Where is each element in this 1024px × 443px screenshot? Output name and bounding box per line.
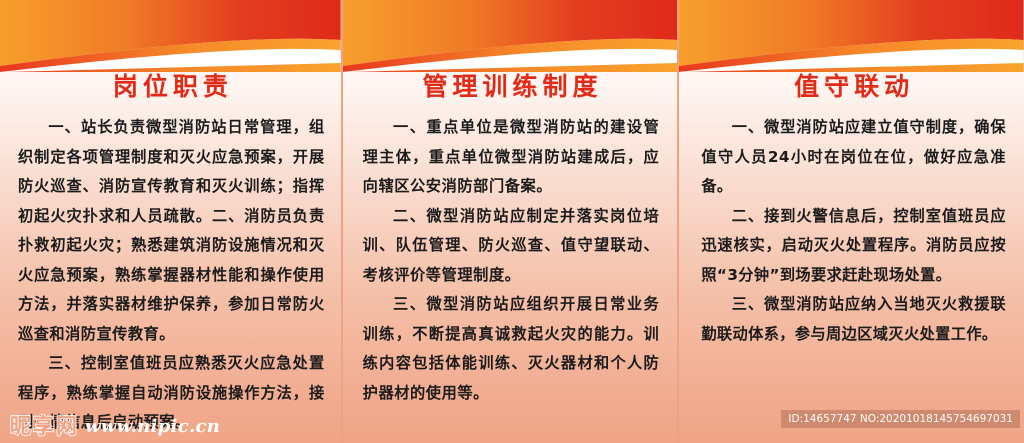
logo-char: 享 [33, 416, 54, 437]
paragraph: 一、站长负责微型消防站日常管理，组织制定各项管理制度和灭火应急预案，开展防火巡查… [18, 113, 325, 349]
panel-title: 岗位职责 [0, 74, 341, 99]
paragraph: 三、微型消防站应纳入当地灭火救援联勤联动体系，参与周边区域灭火处置工作。 [701, 290, 1006, 349]
paragraph: 三、微型消防站应组织开展日常业务训练，不断提高真诚救起火灾的能力。训练内容包括体… [363, 290, 660, 408]
panel-management-training-system: 管理训练制度 一、重点单位是微型消防站的建设管理主体，重点单位微型消防站建成后，… [343, 0, 678, 443]
logo-char: 昵 [10, 416, 31, 437]
image-id-badge: ID:14657747 NO:20201018145754697031 [781, 410, 1020, 428]
paragraph: 一、微型消防站应建立值守制度，确保值守人员24小时在岗位在位，做好应急准备。 [701, 113, 1006, 202]
panel-duty-watch-linkage: 值守联动 一、微型消防站应建立值守制度，确保值守人员24小时在岗位在位，做好应急… [679, 0, 1024, 443]
panel-header-artwork [679, 0, 1024, 72]
panel-body: 一、站长负责微型消防站日常管理，组织制定各项管理制度和灭火应急预案，开展防火巡查… [0, 113, 341, 438]
panel-header-artwork [343, 0, 678, 72]
paragraph: 二、接到火警信息后，控制室值班员应迅速核实，启动灭火处置程序。消防员应按照“3分… [701, 202, 1006, 291]
paragraph: 二、微型消防站应制定并落实岗位培训、队伍管理、防火巡查、值守望联动、考核评价等管… [363, 202, 660, 291]
panel-duty-responsibilities: 岗位职责 一、站长负责微型消防站日常管理，组织制定各项管理制度和灭火应急预案，开… [0, 0, 341, 443]
panel-title: 值守联动 [679, 74, 1024, 99]
panel-body: 一、微型消防站应建立值守制度，确保值守人员24小时在岗位在位，做好应急准备。 二… [679, 113, 1024, 349]
paragraph: 一、重点单位是微型消防站的建设管理主体，重点单位微型消防站建成后，应向辖区公安消… [363, 113, 660, 202]
poster-board: 岗位职责 一、站长负责微型消防站日常管理，组织制定各项管理制度和灭火应急预案，开… [0, 0, 1024, 443]
site-watermark: 昵 享 网 www.nipic.cn [10, 416, 220, 437]
panel-header-artwork [0, 0, 341, 72]
nipic-logo: 昵 享 网 [10, 416, 77, 437]
panel-body: 一、重点单位是微型消防站的建设管理主体，重点单位微型消防站建成后，应向辖区公安消… [343, 113, 678, 408]
watermark-url: www.nipic.cn [85, 418, 220, 436]
panel-title: 管理训练制度 [343, 74, 678, 99]
logo-char: 网 [56, 416, 77, 437]
